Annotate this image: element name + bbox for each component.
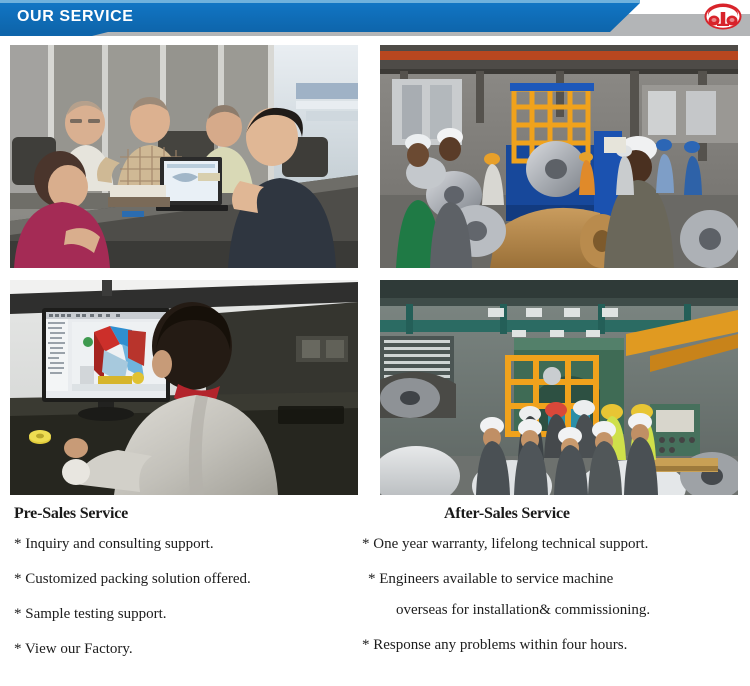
after-sales-item: * Engineers available to service machine <box>362 571 748 588</box>
after-sales-column: After-Sales Service * One year warranty,… <box>362 505 748 672</box>
gallery-image-team <box>380 280 738 495</box>
after-sales-item: * Response any problems within four hour… <box>362 637 748 654</box>
pre-sales-column: Pre-Sales Service * Inquiry and consulti… <box>8 505 368 676</box>
pre-sales-item: * View our Factory. <box>8 641 368 658</box>
pre-sales-item: * Inquiry and consulting support. <box>8 536 368 553</box>
gallery-image-cad <box>10 280 358 495</box>
company-logo-icon <box>704 3 742 30</box>
page-title: OUR SERVICE <box>17 7 134 27</box>
header-top-highlight <box>0 0 640 3</box>
after-sales-item-continuation: overseas for installation& commissioning… <box>362 602 748 619</box>
pre-sales-item: * Sample testing support. <box>8 606 368 623</box>
pre-sales-item: * Customized packing solution offered. <box>8 571 368 588</box>
page-header: OUR SERVICE <box>0 0 750 36</box>
pre-sales-heading: Pre-Sales Service <box>8 505 368 523</box>
after-sales-item: * One year warranty, lifelong technical … <box>362 536 748 553</box>
gallery-image-factory <box>380 45 738 268</box>
after-sales-heading: After-Sales Service <box>362 505 748 523</box>
gallery-image-meeting <box>10 45 358 268</box>
